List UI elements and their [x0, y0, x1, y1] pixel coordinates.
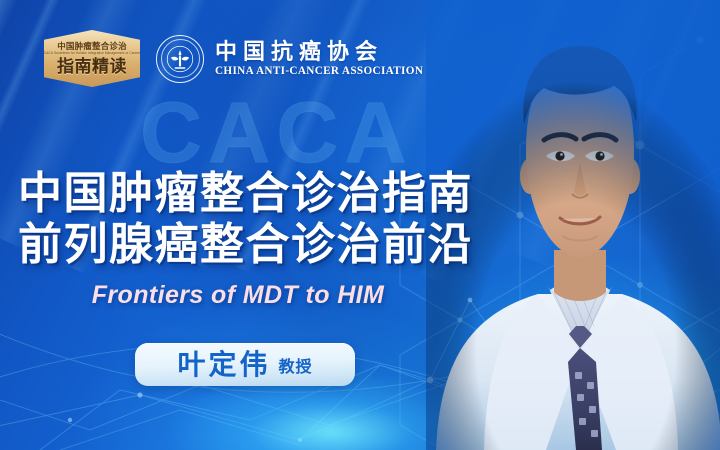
- poster-banner: CACA: [0, 0, 720, 450]
- association-chinese-name: 中国抗癌协会: [215, 40, 423, 63]
- guide-badge-english-text: CACA Guidelines for Holistic Integrative…: [44, 52, 140, 55]
- main-title-line-2: 前列腺癌整合诊治前沿: [18, 219, 488, 270]
- caca-watermark: CACA: [140, 90, 412, 176]
- guide-badge-top-text: 中国肿瘤整合诊治: [57, 42, 127, 51]
- caca-emblem-icon: [156, 35, 204, 83]
- header-logos: 中国肿瘤整合诊治 CACA Guidelines for Holistic In…: [44, 30, 423, 87]
- main-title-line-1: 中国肿瘤整合诊治指南: [18, 168, 488, 219]
- guide-badge-main-text: 指南精读: [57, 58, 127, 75]
- speaker-title: 教授: [279, 360, 313, 376]
- guide-badge: 中国肿瘤整合诊治 CACA Guidelines for Holistic In…: [44, 30, 140, 87]
- speaker-name-badge: 叶定伟 教授: [135, 343, 355, 386]
- association-logo: 中国抗癌协会 CHINA ANTI-CANCER ASSOCIATION: [156, 35, 423, 83]
- title-block: 中国肿瘤整合诊治指南 前列腺癌整合诊治前沿 Frontiers of MDT t…: [18, 168, 488, 310]
- english-subtitle: Frontiers of MDT to HIM: [18, 281, 458, 310]
- speaker-name: 叶定伟: [177, 351, 270, 379]
- association-english-name: CHINA ANTI-CANCER ASSOCIATION: [215, 65, 423, 77]
